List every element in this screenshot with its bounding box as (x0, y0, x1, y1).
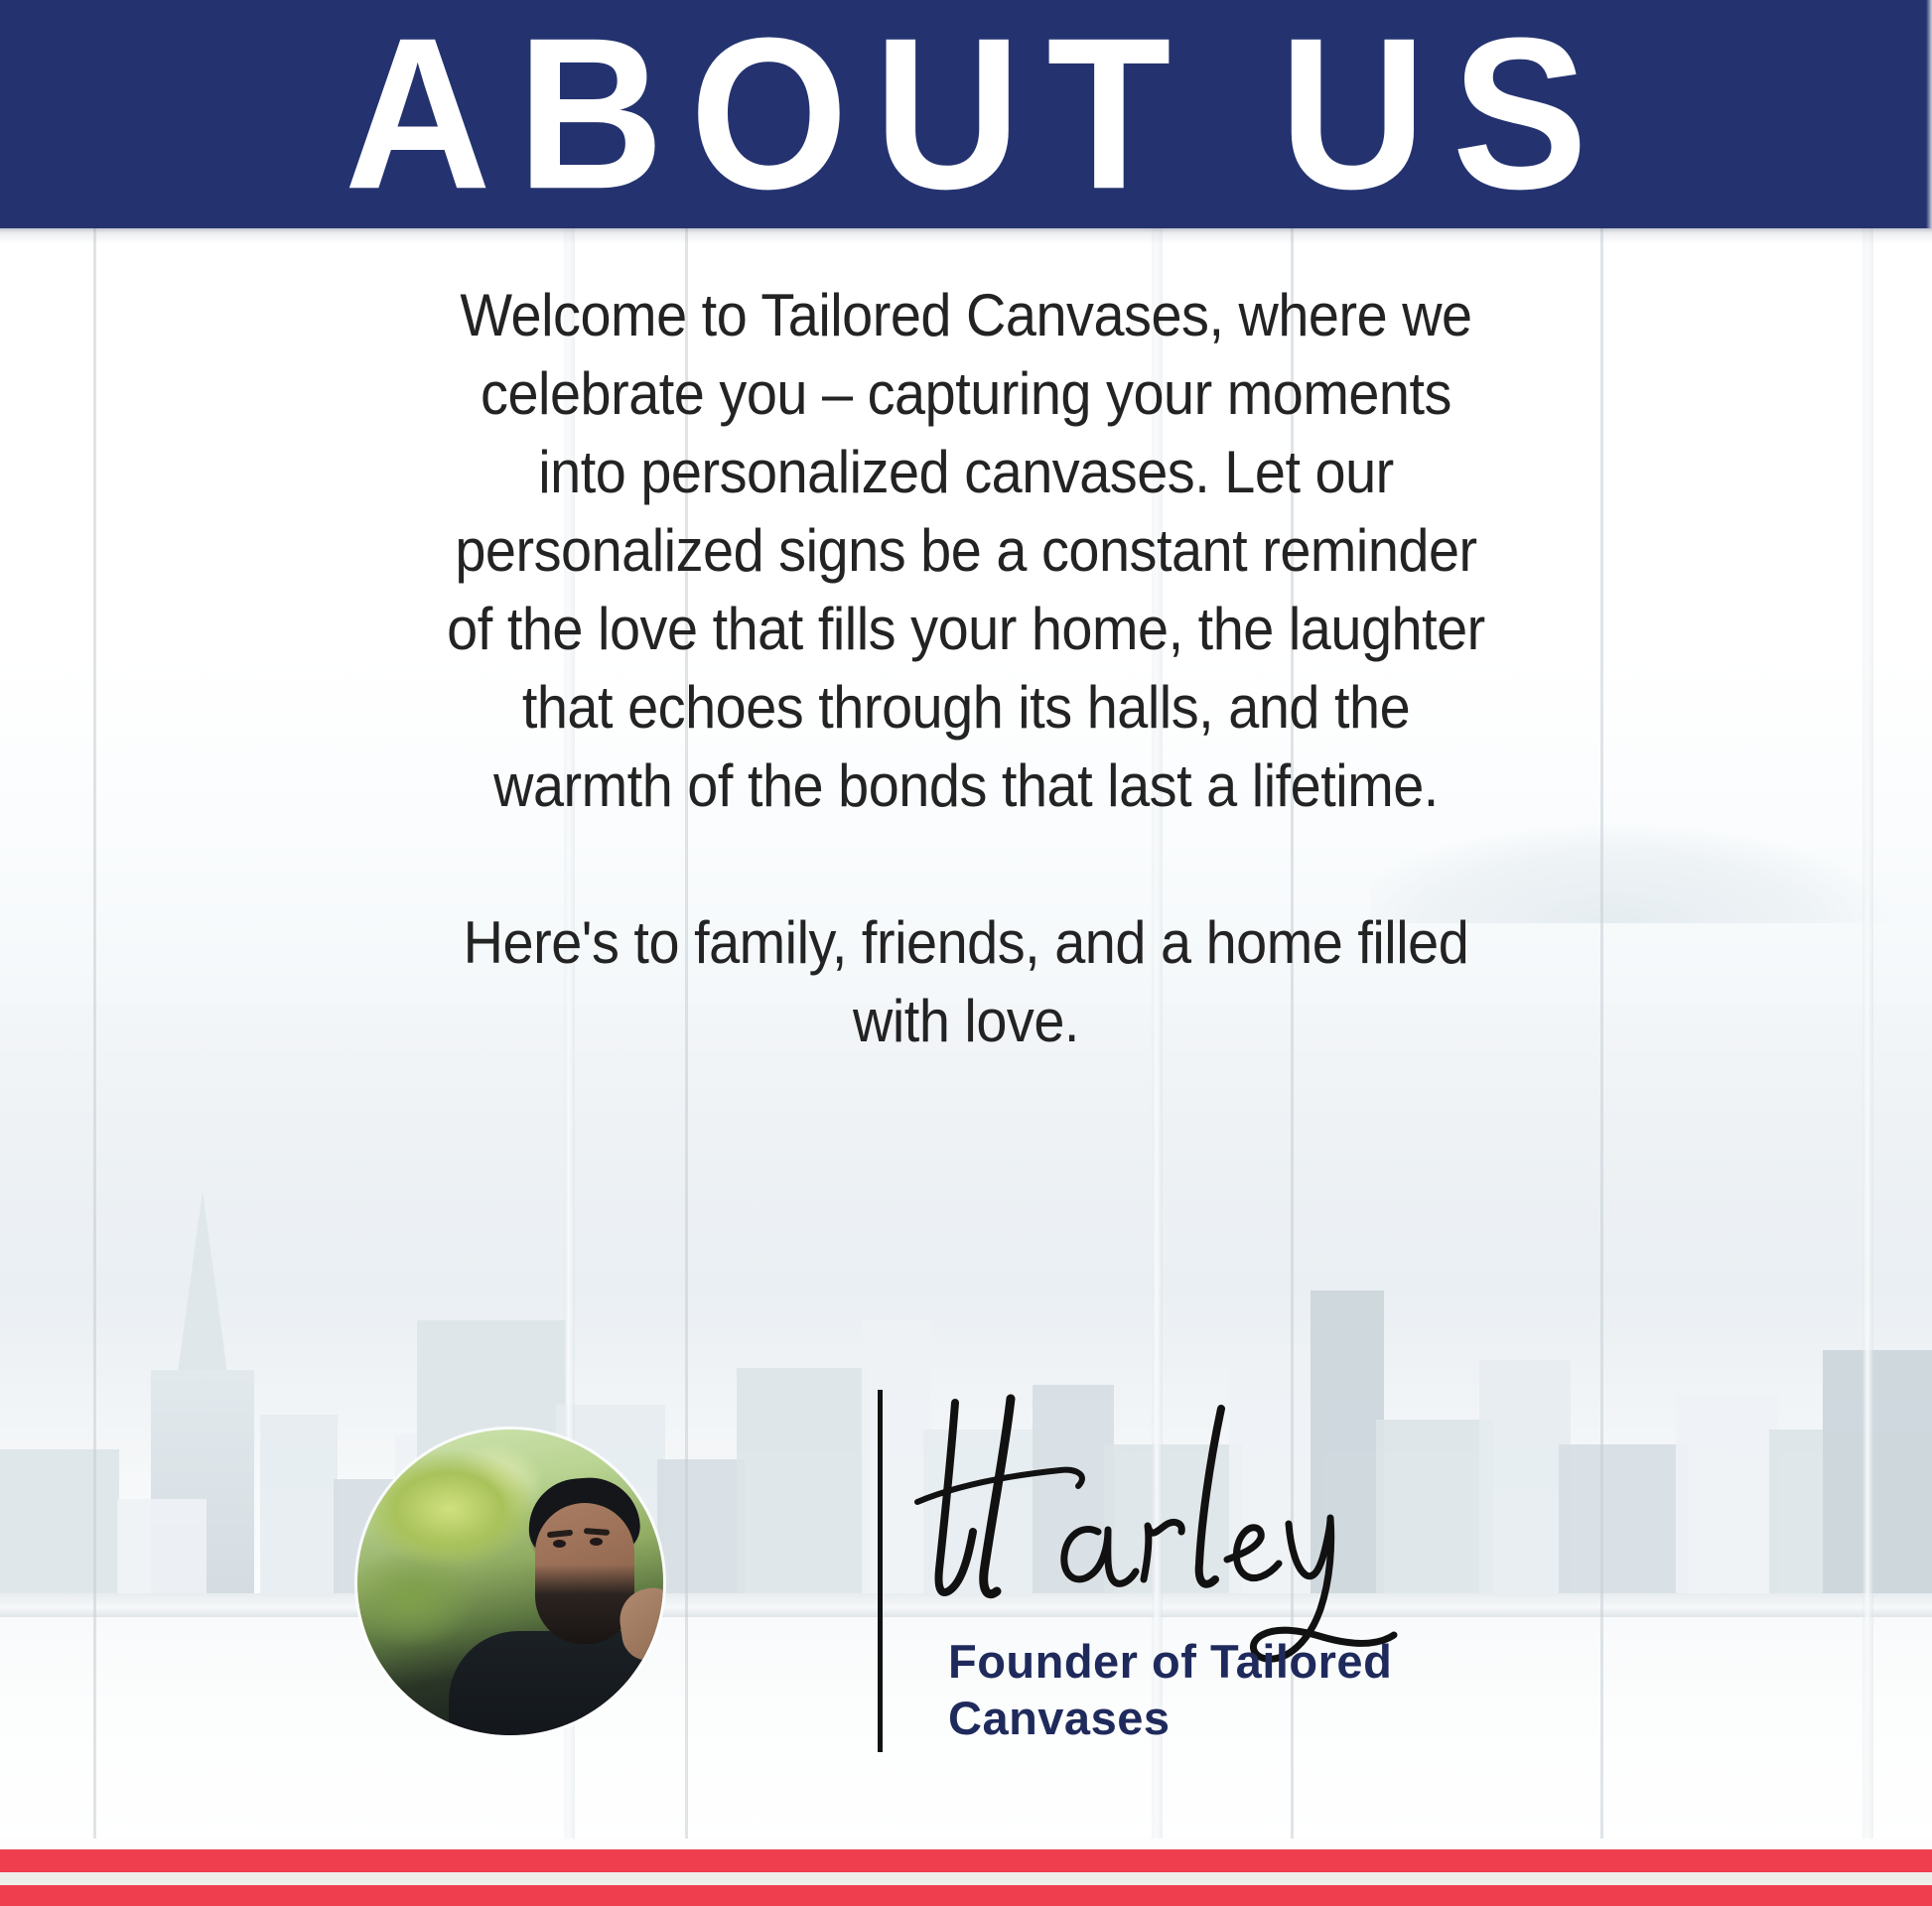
founder-signature (894, 1385, 1449, 1673)
avatar-eye (553, 1540, 566, 1548)
building (1823, 1350, 1932, 1618)
pyramid-spire-icon (177, 1191, 228, 1380)
copy-line: Welcome to Tailored Canvases, where we (68, 276, 1864, 354)
copy-line: into personalized canvases. Let our (68, 433, 1864, 511)
copy-line: celebrate you – capturing your moments (68, 354, 1864, 433)
footer-stripe-gap (0, 1872, 1932, 1885)
copy-line: Here's to family, friends, and a home fi… (68, 903, 1864, 982)
signature-divider (878, 1390, 883, 1752)
footer-accent-stripe-bottom (0, 1885, 1932, 1906)
banner-drop-shadow (0, 228, 1932, 244)
footer-accent-stripe-top (0, 1849, 1932, 1872)
avatar-photo (357, 1429, 663, 1735)
about-us-body-copy: Welcome to Tailored Canvases, where we c… (0, 276, 1932, 1060)
building (737, 1368, 868, 1618)
copy-line: warmth of the bonds that last a lifetime… (68, 747, 1864, 825)
founder-title-line-1: Founder of Tailored (948, 1633, 1643, 1690)
building (1559, 1444, 1688, 1618)
copy-line: of the love that fills your home, the la… (68, 590, 1864, 668)
signature-icon (894, 1385, 1449, 1673)
building (1479, 1360, 1571, 1618)
paragraph-spacer (0, 825, 1932, 903)
about-us-graphic: ABOUT US Welcome to Tailored Canvases, w… (0, 0, 1932, 1906)
avatar (357, 1429, 663, 1735)
founder-title-line-2: Canvases (948, 1690, 1643, 1746)
building (1676, 1395, 1779, 1618)
building (260, 1415, 338, 1618)
banner-right-edge (1926, 0, 1932, 228)
copy-line: with love. (68, 982, 1864, 1060)
header-banner: ABOUT US (0, 0, 1932, 228)
page-title: ABOUT US (319, 9, 1614, 219)
copy-line: personalized signs be a constant reminde… (68, 511, 1864, 590)
copy-line: that echoes through its halls, and the (68, 668, 1864, 747)
founder-title: Founder of Tailored Canvases (948, 1633, 1643, 1746)
